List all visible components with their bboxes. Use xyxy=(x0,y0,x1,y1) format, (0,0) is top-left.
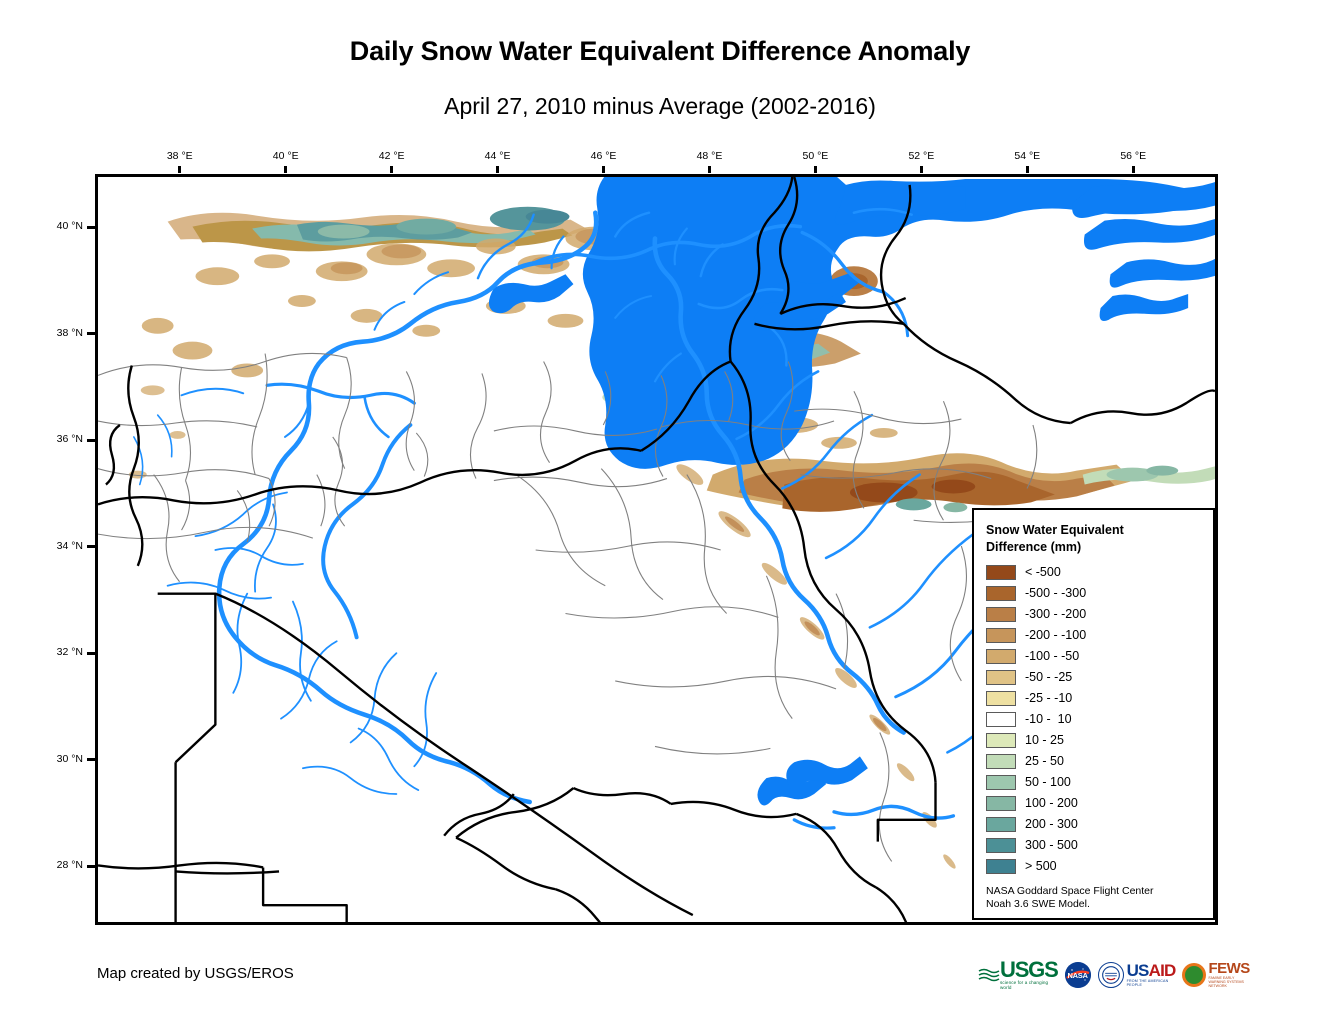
lon-label: 48 °E xyxy=(679,150,739,162)
legend-swatch xyxy=(986,691,1016,706)
legend-swatch xyxy=(986,565,1016,580)
legend-row: 300 - 500 xyxy=(986,835,1203,856)
fewsnet-globe-inner xyxy=(1185,966,1203,984)
legend-label: -200 - -100 xyxy=(1025,628,1086,642)
legend-label: 100 - 200 xyxy=(1025,796,1078,810)
lon-tick xyxy=(1132,166,1135,173)
legend-swatch xyxy=(986,733,1016,748)
page-title: Daily Snow Water Equivalent Difference A… xyxy=(0,36,1320,67)
legend-row: -500 - -300 xyxy=(986,583,1203,604)
lon-label: 56 °E xyxy=(1103,150,1163,162)
lat-label: 34 °N xyxy=(23,540,83,552)
lat-label: 36 °N xyxy=(23,433,83,445)
lon-label: 38 °E xyxy=(150,150,210,162)
legend-swatch xyxy=(986,859,1016,874)
legend-row: -25 - -10 xyxy=(986,688,1203,709)
usaid-logo: USAID FROM THE AMERICAN PEOPLE xyxy=(1098,955,1176,995)
legend-title-line1: Snow Water Equivalent xyxy=(986,522,1203,539)
fewsnet-logo: FEWS FAMINE EARLY WARNING SYSTEMS NETWOR… xyxy=(1182,955,1249,995)
usaid-tagline: FROM THE AMERICAN PEOPLE xyxy=(1127,979,1176,987)
lat-tick xyxy=(87,865,95,868)
usaid-suffix: AID xyxy=(1149,961,1176,980)
legend-swatch xyxy=(986,838,1016,853)
lon-tick xyxy=(178,166,181,173)
lat-tick xyxy=(87,332,95,335)
lat-tick xyxy=(87,758,95,761)
legend-label: > 500 xyxy=(1025,859,1057,873)
fewsnet-globe-icon xyxy=(1182,963,1206,987)
legend-swatch xyxy=(986,628,1016,643)
lon-tick xyxy=(602,166,605,173)
lat-label: 30 °N xyxy=(23,753,83,765)
lon-tick xyxy=(1026,166,1029,173)
lat-tick xyxy=(87,226,95,229)
lon-label: 54 °E xyxy=(997,150,1057,162)
legend-swatch xyxy=(986,754,1016,769)
legend-row: 25 - 50 xyxy=(986,751,1203,772)
legend-row: 10 - 25 xyxy=(986,730,1203,751)
legend-label: -300 - -200 xyxy=(1025,607,1086,621)
lon-tick xyxy=(284,166,287,173)
usaid-wordmark: USAID xyxy=(1127,963,1176,979)
legend-row: 200 - 300 xyxy=(986,814,1203,835)
legend-label: -100 - -50 xyxy=(1025,649,1079,663)
lon-tick xyxy=(496,166,499,173)
nasa-meatball-icon: NASA xyxy=(1065,962,1091,988)
legend-label: 50 - 100 xyxy=(1025,775,1071,789)
lon-label: 52 °E xyxy=(891,150,951,162)
lon-tick xyxy=(390,166,393,173)
lon-label: 42 °E xyxy=(362,150,422,162)
legend-row: < -500 xyxy=(986,562,1203,583)
legend-label: -10 - 10 xyxy=(1025,712,1072,726)
nasa-logo: NASA xyxy=(1065,955,1091,995)
legend-swatch xyxy=(986,796,1016,811)
legend-label: -500 - -300 xyxy=(1025,586,1086,600)
legend-label: < -500 xyxy=(1025,565,1061,579)
legend-source-line2: Noah 3.6 SWE Model. xyxy=(986,898,1203,912)
fewsnet-tagline: FAMINE EARLY WARNING SYSTEMS NETWORK xyxy=(1208,976,1249,988)
legend-label: 10 - 25 xyxy=(1025,733,1064,747)
legend-row: -100 - -50 xyxy=(986,646,1203,667)
legend-swatch xyxy=(986,649,1016,664)
page-subtitle: April 27, 2010 minus Average (2002-2016) xyxy=(0,93,1320,120)
lat-label: 28 °N xyxy=(23,859,83,871)
usaid-prefix: US xyxy=(1127,961,1149,980)
logo-strip: USGS science for a changing world NASA xyxy=(978,953,1206,997)
lon-label: 46 °E xyxy=(574,150,634,162)
nasa-wordmark: NASA xyxy=(1068,971,1088,980)
legend-swatch xyxy=(986,817,1016,832)
usgs-wave-icon xyxy=(978,967,1000,984)
legend-label: -25 - -10 xyxy=(1025,691,1072,705)
lon-tick xyxy=(920,166,923,173)
lon-label: 50 °E xyxy=(785,150,845,162)
legend-swatch xyxy=(986,607,1016,622)
legend-row: -50 - -25 xyxy=(986,667,1203,688)
map-credit: Map created by USGS/EROS xyxy=(97,965,294,982)
legend-label: 200 - 300 xyxy=(1025,817,1078,831)
legend-row: -10 - 10 xyxy=(986,709,1203,730)
fewsnet-wordmark: FEWS xyxy=(1208,962,1249,976)
usgs-wordmark: USGS xyxy=(1000,960,1058,980)
lat-label: 32 °N xyxy=(23,646,83,658)
usgs-logo: USGS science for a changing world xyxy=(978,955,1058,995)
usaid-seal-emblem-icon xyxy=(1101,965,1121,985)
legend-source: NASA Goddard Space Flight Center Noah 3.… xyxy=(986,885,1203,912)
legend-row: > 500 xyxy=(986,856,1203,877)
lon-label: 44 °E xyxy=(468,150,528,162)
legend-row: -300 - -200 xyxy=(986,604,1203,625)
lon-tick xyxy=(708,166,711,173)
legend-label: 300 - 500 xyxy=(1025,838,1078,852)
legend-swatch xyxy=(986,712,1016,727)
legend-title-line2: Difference (mm) xyxy=(986,539,1203,556)
legend-swatch xyxy=(986,670,1016,685)
lat-label: 40 °N xyxy=(23,220,83,232)
legend-label: -50 - -25 xyxy=(1025,670,1072,684)
legend-label: 25 - 50 xyxy=(1025,754,1064,768)
lat-label: 38 °N xyxy=(23,327,83,339)
legend-row: -200 - -100 xyxy=(986,625,1203,646)
lat-tick xyxy=(87,652,95,655)
legend-source-line1: NASA Goddard Space Flight Center xyxy=(986,885,1203,899)
legend-swatch xyxy=(986,586,1016,601)
lon-label: 40 °E xyxy=(256,150,316,162)
legend-row: 50 - 100 xyxy=(986,772,1203,793)
lat-tick xyxy=(87,545,95,548)
map-legend: Snow Water Equivalent Difference (mm) < … xyxy=(972,508,1215,920)
legend-entries: < -500-500 - -300-300 - -200-200 - -100-… xyxy=(986,562,1203,877)
lat-tick xyxy=(87,439,95,442)
legend-title: Snow Water Equivalent Difference (mm) xyxy=(986,522,1203,556)
legend-swatch xyxy=(986,775,1016,790)
lon-tick xyxy=(814,166,817,173)
legend-row: 100 - 200 xyxy=(986,793,1203,814)
usaid-seal-icon xyxy=(1098,962,1124,988)
